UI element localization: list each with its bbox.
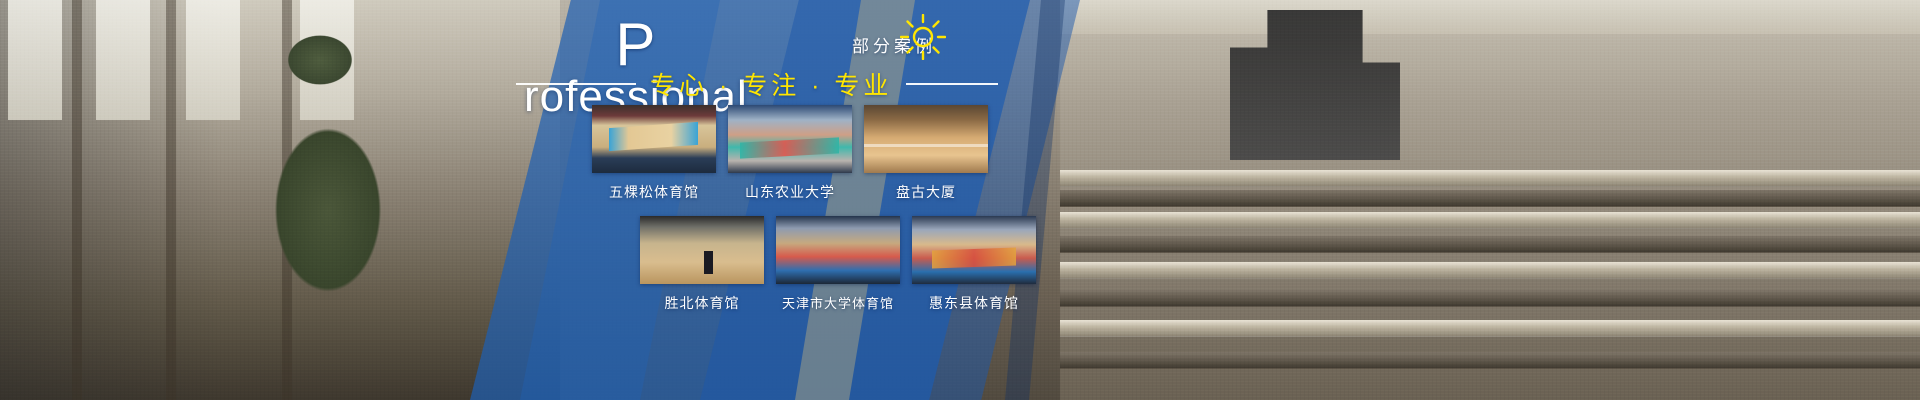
sports-arena-thumb[interactable] — [912, 216, 1036, 284]
gallery-item-caption: 五棵松体育馆 — [592, 182, 716, 202]
gallery-item-caption: 盘古大厦 — [864, 182, 988, 202]
crowd-arena-thumb[interactable] — [776, 216, 900, 284]
case-gallery: 五棵松体育馆 山东农业大学 盘古大厦 胜北体育馆 天津市大 — [592, 105, 1048, 313]
gallery-row: 胜北体育馆 天津市大学体育馆 惠东县体育馆 — [640, 216, 1048, 313]
tagline-rule-right — [906, 83, 998, 85]
gallery-item[interactable]: 山东农业大学 — [728, 105, 852, 202]
gallery-item[interactable]: 惠东县体育馆 — [912, 216, 1036, 313]
tagline-row: 专心 · 专注 · 专业 — [516, 66, 998, 102]
tagline-rule-left — [516, 83, 636, 85]
gallery-item[interactable]: 五棵松体育馆 — [592, 105, 716, 202]
gallery-item[interactable]: 天津市大学体育馆 — [776, 216, 900, 313]
gallery-row: 五棵松体育馆 山东农业大学 盘古大厦 — [592, 105, 1048, 202]
gallery-item-caption: 天津市大学体育馆 — [776, 293, 900, 312]
indoor-hall-thumb[interactable] — [640, 216, 764, 284]
gallery-item[interactable]: 胜北体育馆 — [640, 216, 764, 313]
wooden-floor-gym-thumb[interactable] — [864, 105, 988, 173]
gallery-item-caption: 山东农业大学 — [728, 182, 852, 202]
banner-content: Professional 专心 · 专注 · 专业 部分案例 — [0, 0, 1920, 400]
gallery-item[interactable]: 盘古大厦 — [864, 105, 988, 202]
volleyball-arena-thumb[interactable] — [728, 105, 852, 173]
gallery-item-caption: 惠东县体育馆 — [912, 293, 1036, 313]
gallery-item-caption: 胜北体育馆 — [640, 293, 764, 313]
headline: Professional — [524, 6, 748, 119]
sun-icon — [900, 14, 946, 60]
basketball-court-thumb[interactable] — [592, 105, 716, 173]
promo-banner: Professional 专心 · 专注 · 专业 部分案例 — [0, 0, 1920, 400]
tagline-text: 专心 · 专注 · 专业 — [650, 66, 892, 102]
